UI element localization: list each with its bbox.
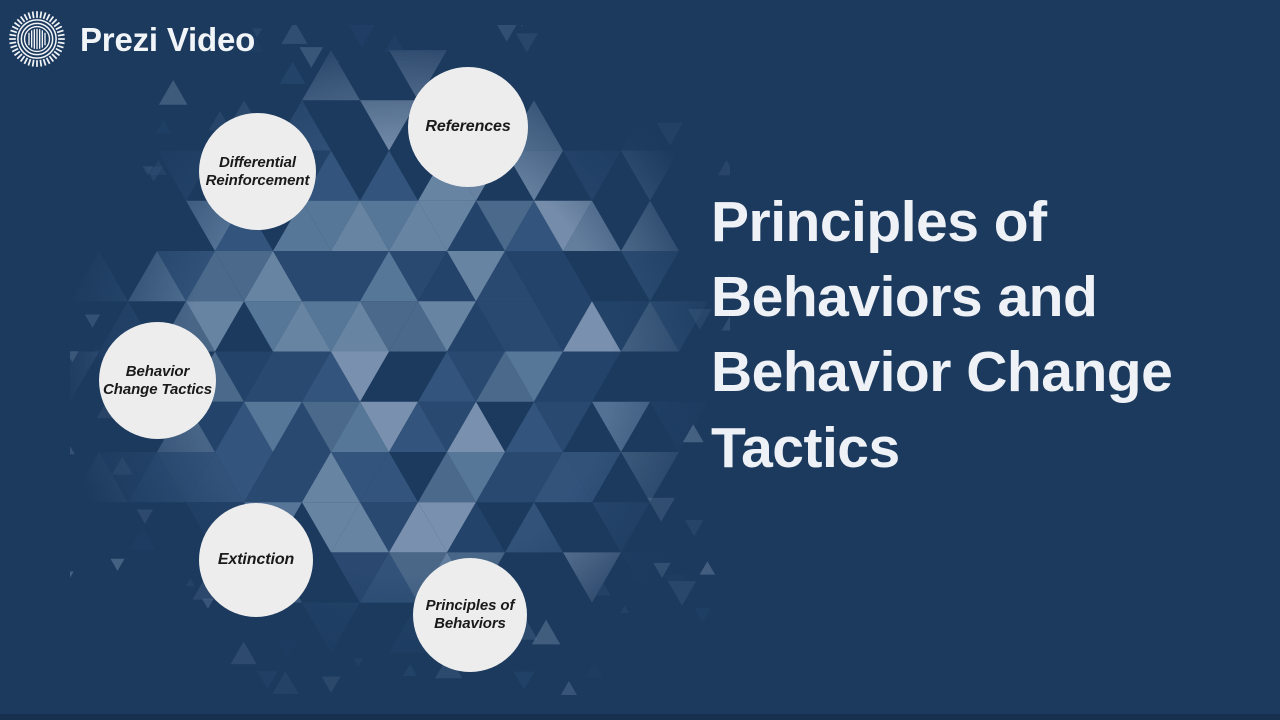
topic-bubble-behavior-change-tactics[interactable]: Behavior Change Tactics <box>99 322 216 439</box>
topic-bubble-label: Behavior Change Tactics <box>99 363 216 398</box>
brand-name: Prezi Video <box>80 23 255 56</box>
topic-bubble-principles-of-behaviors[interactable]: Principles of Behaviors <box>413 558 527 672</box>
topic-bubble-label: References <box>408 118 528 137</box>
topic-bubble-label: Differential Reinforcement <box>199 154 316 189</box>
bottom-edge-strip <box>0 714 1280 720</box>
topic-bubble-differential-reinforcement[interactable]: Differential Reinforcement <box>199 113 316 230</box>
topic-bubble-label: Principles of Behaviors <box>413 597 527 632</box>
page-title: Principles of Behaviors and Behavior Cha… <box>711 185 1231 486</box>
prezi-video-logo[interactable]: Prezi Video <box>8 10 255 68</box>
slide-canvas: Prezi Video Principles of Behaviors and … <box>0 0 1280 720</box>
topic-bubble-label: Extinction <box>199 551 313 570</box>
topic-bubble-extinction[interactable]: Extinction <box>199 503 313 617</box>
prezi-radial-logo-icon <box>8 10 66 68</box>
topic-bubble-references[interactable]: References <box>408 67 528 187</box>
